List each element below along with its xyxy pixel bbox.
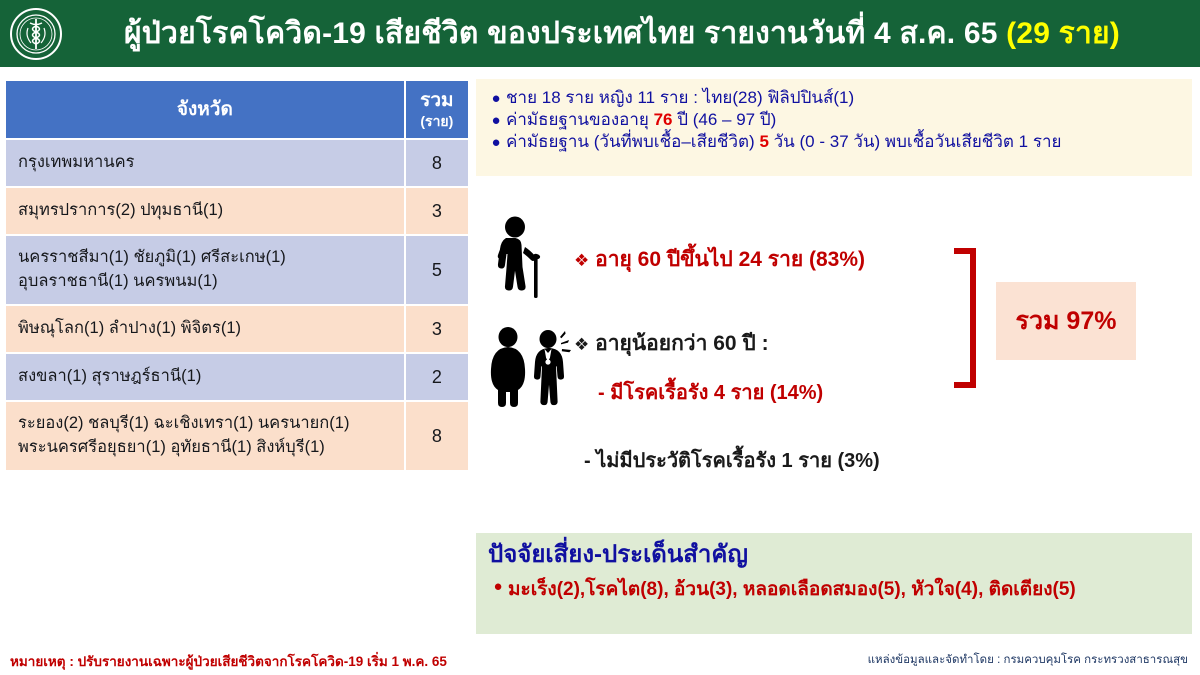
total-percentage-badge: รวม 97% xyxy=(996,282,1136,360)
summary-item-text: ค่ามัธยฐาน (วันที่พบเชื้อ–เสียชีวิต) 5 ว… xyxy=(506,132,1182,151)
cell-count: 2 xyxy=(406,354,468,400)
summary-item-highlight: 5 xyxy=(759,132,768,151)
table-row: ระยอง(2) ชลบุรี(1) ฉะเชิงเทรา(1) นครนายก… xyxy=(6,402,468,470)
page-title-main: ผู้ป่วยโรคโควิด-19 เสียชีวิต ของประเทศไท… xyxy=(124,17,998,50)
page-title-count: (29 ราย) xyxy=(1006,17,1120,50)
risk-factors-item: ● มะเร็ง(2),โรคไต(8), อ้วน(3), หลอดเลือด… xyxy=(488,574,1180,604)
age-breakdown-panel: ❖ อายุ 60 ปีขึ้นไป 24 ราย (83%) ❖ อายุน้… xyxy=(476,196,1192,526)
table-row: นครราชสีมา(1) ชัยภูมิ(1) ศรีสะเกษ(1) อุบ… xyxy=(6,236,468,304)
cell-count: 8 xyxy=(406,140,468,186)
cell-province: นครราชสีมา(1) ชัยภูมิ(1) ศรีสะเกษ(1) อุบ… xyxy=(6,236,404,304)
age-over-60-text: อายุ 60 ปีขึ้นไป 24 ราย (83%) xyxy=(595,248,865,271)
province-death-table: จังหวัด รวม (ราย) กรุงเทพมหานคร 8 สมุทรป… xyxy=(4,79,470,472)
table-header-row: จังหวัด รวม (ราย) xyxy=(6,81,468,138)
cell-count: 3 xyxy=(406,188,468,234)
summary-item-pre: ค่ามัธยฐานของอายุ xyxy=(506,110,654,129)
risk-factors-item-text: มะเร็ง(2),โรคไต(8), อ้วน(3), หลอดเลือดสม… xyxy=(508,574,1076,604)
summary-panel: ● ชาย 18 ราย หญิง 11 ราย : ไทย(28) ฟิลิป… xyxy=(476,79,1192,176)
table-row: กรุงเทพมหานคร 8 xyxy=(6,140,468,186)
elderly-person-with-cane-icon xyxy=(488,215,550,303)
summary-item: ● ค่ามัธยฐานของอายุ 76 ปี (46 – 97 ปี) xyxy=(486,110,1182,129)
summary-item-text: ชาย 18 ราย หญิง 11 ราย : ไทย(28) ฟิลิปปิ… xyxy=(506,88,1182,107)
cell-count: 3 xyxy=(406,306,468,352)
age-under-60-text: อายุน้อยกว่า 60 ปี : xyxy=(595,332,768,355)
table-row: พิษณุโลก(1) ลำปาง(1) พิจิตร(1) 3 xyxy=(6,306,468,352)
age-under-60-line: ❖ อายุน้อยกว่า 60 ปี : xyxy=(574,327,769,360)
grouping-bracket xyxy=(954,248,976,388)
table-row: สมุทรปราการ(2) ปทุมธานี(1) 3 xyxy=(6,188,468,234)
table-row: สงขลา(1) สุราษฎร์ธานี(1) 2 xyxy=(6,354,468,400)
diamond-bullet-icon: ❖ xyxy=(574,251,589,270)
table-body: กรุงเทพมหานคร 8 สมุทรปราการ(2) ปทุมธานี(… xyxy=(6,140,468,470)
bullet-icon: ● xyxy=(486,110,506,128)
cell-province: สมุทรปราการ(2) ปทุมธานี(1) xyxy=(6,188,404,234)
header-bar: ผู้ป่วยโรคโควิด-19 เสียชีวิต ของประเทศไท… xyxy=(0,0,1200,67)
thai-ministry-of-public-health-emblem-icon xyxy=(8,6,64,62)
column-header-total-unit: (ราย) xyxy=(410,113,464,131)
no-chronic-disease-line: - ไม่มีประวัติโรคเรื้อรัง 1 ราย (3%) xyxy=(584,444,880,476)
slide-root: ผู้ป่วยโรคโควิด-19 เสียชีวิต ของประเทศไท… xyxy=(0,0,1200,675)
footnote-right: แหล่งข้อมูลและจัดทำโดย : กรมควบคุมโรค กร… xyxy=(868,651,1188,669)
cell-count: 5 xyxy=(406,236,468,304)
chronic-disease-line: - มีโรคเรื้อรัง 4 ราย (14%) xyxy=(598,376,823,408)
summary-item-post: ปี (46 – 97 ปี) xyxy=(673,110,777,129)
summary-item: ● ชาย 18 ราย หญิง 11 ราย : ไทย(28) ฟิลิป… xyxy=(486,88,1182,107)
bullet-icon: ● xyxy=(488,574,508,595)
risk-factors-title: ปัจจัยเสี่ยง-ประเด็นสำคัญ xyxy=(488,540,1180,570)
cell-province: พิษณุโลก(1) ลำปาง(1) พิจิตร(1) xyxy=(6,306,404,352)
age-over-60-line: ❖ อายุ 60 ปีขึ้นไป 24 ราย (83%) xyxy=(574,243,865,276)
summary-item-pre: ค่ามัธยฐาน (วันที่พบเชื้อ–เสียชีวิต) xyxy=(506,132,759,151)
cell-province: ระยอง(2) ชลบุรี(1) ฉะเชิงเทรา(1) นครนายก… xyxy=(6,402,404,470)
summary-item-pre: ชาย 18 ราย หญิง 11 ราย : ไทย(28) ฟิลิปปิ… xyxy=(506,88,854,107)
summary-item-text: ค่ามัธยฐานของอายุ 76 ปี (46 – 97 ปี) xyxy=(506,110,1182,129)
column-header-total: รวม (ราย) xyxy=(406,81,468,138)
summary-item: ● ค่ามัธยฐาน (วันที่พบเชื้อ–เสียชีวิต) 5… xyxy=(486,132,1182,151)
cell-province: กรุงเทพมหานคร xyxy=(6,140,404,186)
cell-count: 8 xyxy=(406,402,468,470)
footnote-left: หมายเหตุ : ปรับรายงานเฉพาะผู้ป่วยเสียชีว… xyxy=(10,650,447,672)
column-header-total-label: รวม xyxy=(420,90,453,111)
page-title: ผู้ป่วยโรคโควิด-19 เสียชีวิต ของประเทศไท… xyxy=(64,10,1200,57)
diamond-bullet-icon: ❖ xyxy=(574,335,589,354)
bullet-icon: ● xyxy=(486,132,506,150)
summary-item-highlight: 76 xyxy=(654,110,673,129)
obese-and-ill-person-icon xyxy=(484,326,574,408)
bullet-icon: ● xyxy=(486,88,506,106)
summary-item-post: วัน (0 - 37 วัน) พบเชื้อวันเสียชีวิต 1 ร… xyxy=(769,132,1062,151)
risk-factors-panel: ปัจจัยเสี่ยง-ประเด็นสำคัญ ● มะเร็ง(2),โร… xyxy=(476,533,1192,634)
column-header-province: จังหวัด xyxy=(6,81,404,138)
cell-province: สงขลา(1) สุราษฎร์ธานี(1) xyxy=(6,354,404,400)
